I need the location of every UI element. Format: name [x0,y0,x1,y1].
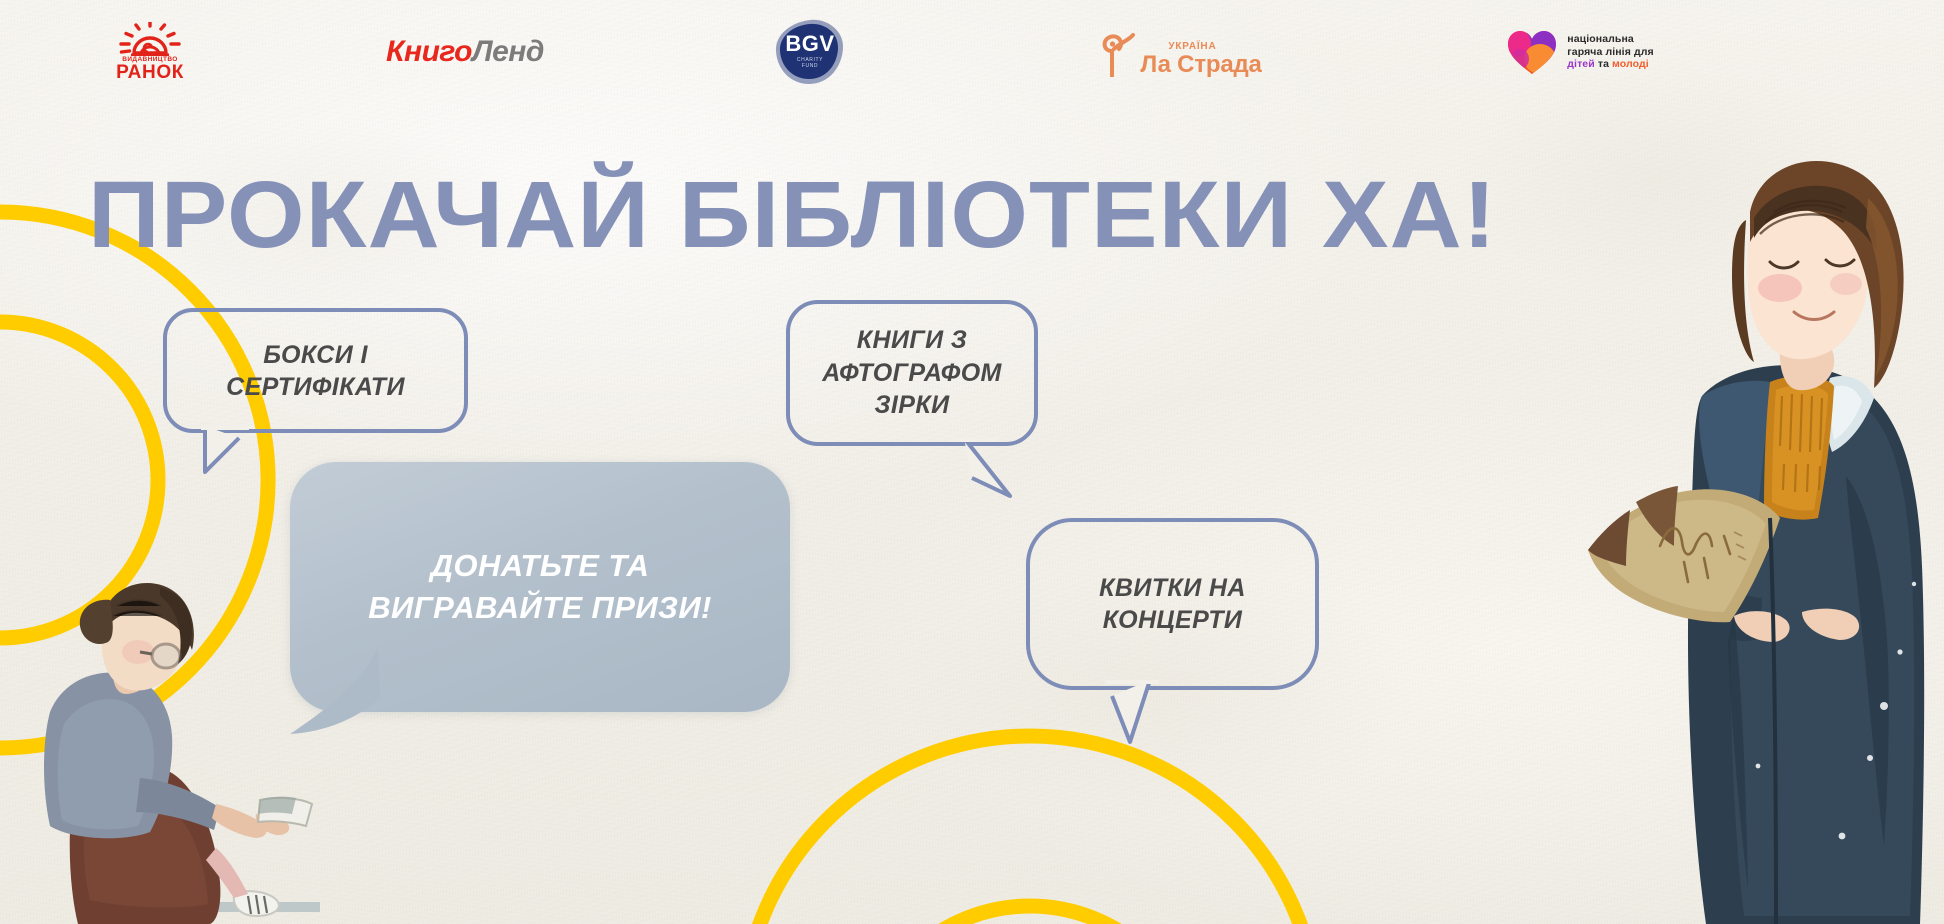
partner-logo-strip: ВИДАВНИЦТВО РАНОК КнигоЛенд BGV CHARITY … [0,0,1944,104]
bubble-boxes-text: БОКСИ І СЕРТИФІКАТИ [163,308,468,433]
logo-national-hotline[interactable]: національна гаряча лінія для дітей та мо… [1370,0,1790,104]
hotline-line-3b: та [1595,58,1612,70]
illustration-woman-standing-reading [1584,146,1944,924]
bubble-signed-books[interactable]: КНИГИ З АФТОГРАФОМ ЗІРКИ [786,300,1038,446]
bubble-tickets-text: КВИТКИ НА КОНЦЕРТИ [1026,518,1319,690]
logo-bgv[interactable]: BGV CHARITY FUND [630,0,990,104]
logo-la-strada-title: Ла Страда [1140,53,1261,77]
bubble-autograph-text: КНИГИ З АФТОГРАФОМ ЗІРКИ [786,300,1038,446]
bubble-donate-and-win-prizes[interactable]: ДОНАТЬТЕ ТА ВИГРАВАЙТЕ ПРИЗИ! [290,462,790,712]
bubble-boxes-and-certificates[interactable]: БОКСИ І СЕРТИФІКАТИ [163,308,468,433]
hotline-line-1: національна [1567,33,1653,46]
page-title: ПРОКАЧАЙ БІБЛІОТЕКИ ХА! [88,168,1497,263]
logo-ranok[interactable]: ВИДАВНИЦТВО РАНОК [0,0,300,104]
logo-knigoland[interactable]: КнигоЛенд [300,0,630,104]
logo-la-strada[interactable]: УКРАЇНА Ла Страда [990,0,1370,104]
poster-canvas: ВИДАВНИЦТВО РАНОК КнигоЛенд BGV CHARITY … [0,0,1944,924]
bubble-tail-icon [286,648,386,740]
bubble-tail-icon [1104,680,1168,748]
logo-bgv-title: BGV [774,33,846,55]
logo-ranok-title: РАНОК [116,63,184,82]
bubble-tail-icon [199,426,261,476]
sun-icon [117,22,183,56]
logo-bgv-subtitle: CHARITY FUND [774,57,846,70]
logo-knigoland-part-red: Книго [386,35,472,68]
spiral-person-icon [1098,27,1136,77]
bubble-concert-tickets[interactable]: КВИТКИ НА КОНЦЕРТИ [1026,518,1319,690]
bubble-tail-icon [954,438,1016,502]
heart-icon [1506,29,1558,75]
hotline-line-3a: дітей [1567,58,1595,70]
illustration-woman-sitting-reading [20,564,320,924]
logo-knigoland-part-gray: Ленд [472,35,544,68]
hotline-line-3c: молоді [1612,58,1649,70]
hotline-line-2: гаряча лінія для [1567,46,1653,59]
